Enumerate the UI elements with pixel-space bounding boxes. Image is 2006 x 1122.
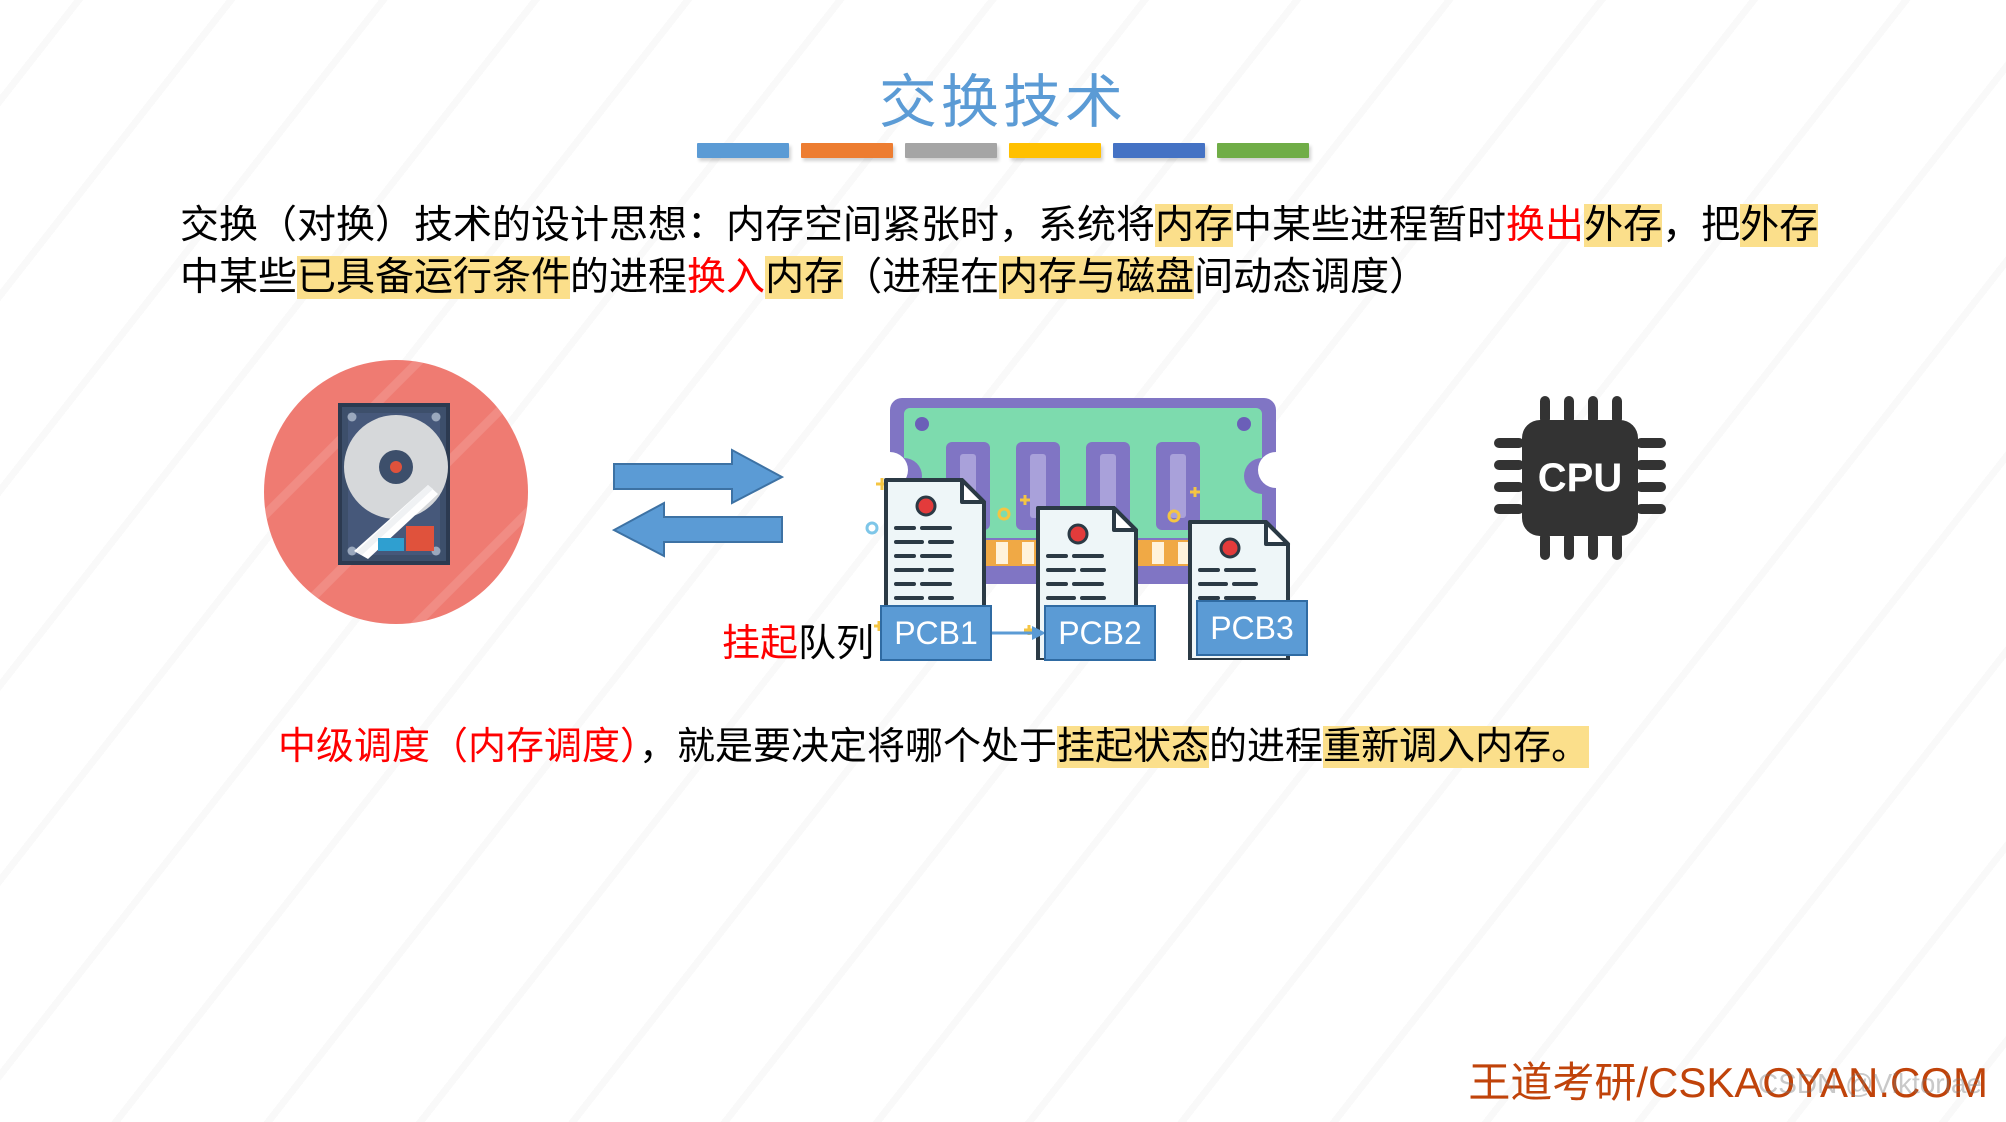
conclusion-paragraph: 中级调度（内存调度），就是要决定将哪个处于挂起状态的进程重新调入内存。 [278, 722, 1678, 772]
title-accent-bars [697, 143, 1309, 158]
text-run: ，就是要决定将哪个处于 [639, 726, 1057, 768]
text-run: 中某些进程暂时 [1233, 204, 1506, 247]
pcb-queue-arrow-icon [992, 624, 1046, 642]
cpu-icon: CPU [1490, 388, 1670, 568]
queue-label-black: 队列 [798, 623, 874, 665]
text-run: 的进程 [570, 256, 687, 299]
text-run-emphasis: 中级调度（内存调度） [278, 726, 639, 768]
queue-label-red: 挂起 [722, 623, 798, 665]
text-run: 交换（对换）技术的设计思想：内存空间紧张时，系统将 [180, 204, 1155, 247]
suspend-queue-label: 挂起队列 [722, 612, 874, 667]
text-run-highlight: 重新调入内存。 [1323, 726, 1589, 768]
accent-bar-blue [697, 143, 789, 158]
body-paragraph: 交换（对换）技术的设计思想：内存空间紧张时，系统将内存中某些进程暂时换出外存，把… [180, 200, 1840, 304]
text-run-highlight: 磁盘 [1116, 256, 1194, 299]
text-run: 中某些 [180, 256, 297, 299]
text-run-highlight: 已具备运行条件 [297, 256, 570, 299]
text-run: 与 [1077, 256, 1116, 299]
accent-bar-indigo [1113, 143, 1205, 158]
accent-bar-orange [801, 143, 893, 158]
text-run-emphasis: 换出 [1506, 204, 1584, 247]
slide-canvas: 交换技术 交换（对换）技术的设计思想：内存空间紧张时，系统将内存中某些进程暂时换… [0, 0, 2006, 1122]
pcb-box-1[interactable]: PCB1 [880, 605, 992, 661]
pcb-box-2[interactable]: PCB2 [1044, 605, 1156, 661]
text-run-highlight: 挂起状态 [1057, 726, 1209, 768]
text-run-highlight: 外存 [1740, 204, 1818, 247]
swap-out-arrow-icon [614, 503, 782, 556]
page-title: 交换技术 [0, 55, 2006, 139]
cpu-label: CPU [1538, 456, 1622, 500]
text-run-highlight: 外存 [1584, 204, 1662, 247]
accent-bar-green [1217, 143, 1309, 158]
pcb-box-3[interactable]: PCB3 [1196, 600, 1308, 656]
swap-arrows-group [612, 448, 784, 558]
text-run: ，把 [1662, 204, 1740, 247]
text-run-highlight: 内存 [999, 256, 1077, 299]
text-run: （进程在 [843, 256, 999, 299]
text-run-highlight: 内存 [765, 256, 843, 299]
text-run: 的进程 [1209, 726, 1323, 768]
hard-disk-icon [262, 358, 530, 626]
swap-in-arrow-icon [614, 450, 782, 503]
accent-bar-yellow [1009, 143, 1101, 158]
csdn-watermark: CSDN @Viktoriae [1758, 1068, 1982, 1100]
text-run-highlight: 内存 [1155, 204, 1233, 247]
accent-bar-gray [905, 143, 997, 158]
text-run: 间动态调度） [1194, 256, 1428, 299]
text-run-emphasis: 换入 [687, 256, 765, 299]
